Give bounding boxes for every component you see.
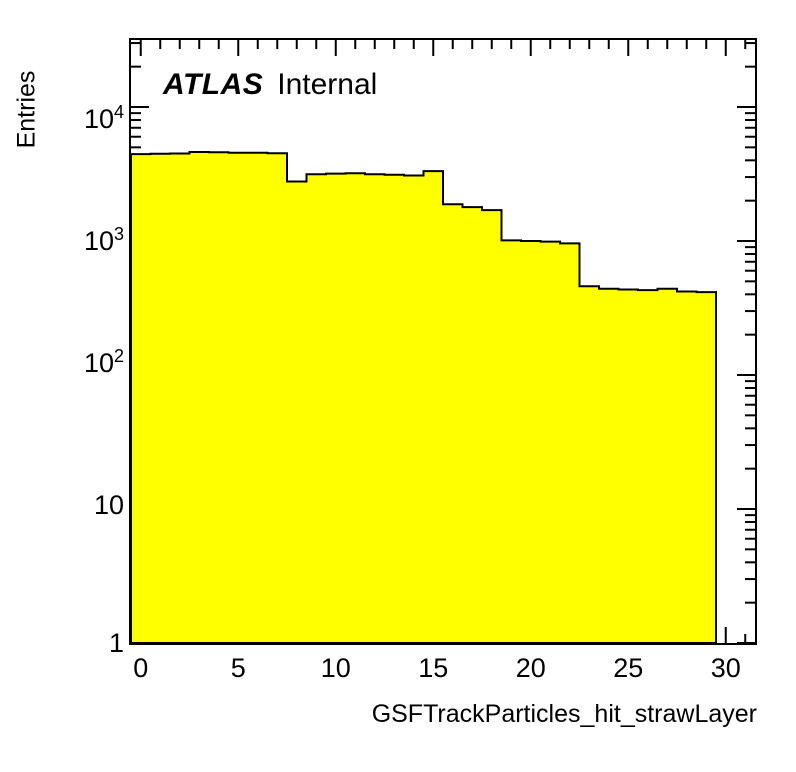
x-tick-label-10: 10 — [321, 655, 351, 682]
x-axis-tick-labels: 051015202530 — [0, 655, 796, 695]
y-tick-label-1e2: 102 — [84, 350, 124, 377]
x-tick-label-25: 25 — [613, 655, 643, 682]
y-axis-title: Entries — [13, 20, 42, 200]
y-tick-label-10: 10 — [94, 492, 124, 519]
x-tick-label-30: 30 — [711, 655, 741, 682]
y-tick-label-1e4: 104 — [84, 106, 124, 133]
x-tick-label-15: 15 — [418, 655, 448, 682]
y-tick-label-1: 1 — [109, 630, 124, 657]
x-tick-label-20: 20 — [516, 655, 546, 682]
x-tick-label-0: 0 — [133, 655, 148, 682]
y-tick-label-1e3: 103 — [84, 228, 124, 255]
atlas-experiment-label: ATLAS — [163, 68, 263, 101]
histogram-plot — [131, 40, 755, 643]
chart-canvas: 104 103 102 10 1 051015202530 GSFTrackPa… — [0, 0, 796, 772]
atlas-label: ATLASInternal — [163, 68, 377, 102]
x-tick-label-5: 5 — [231, 655, 246, 682]
histogram-series — [131, 152, 716, 643]
atlas-status-label: Internal — [277, 68, 377, 101]
plot-frame — [129, 38, 757, 645]
x-axis-title: GSFTrackParticles_hit_strawLayer — [0, 700, 757, 729]
